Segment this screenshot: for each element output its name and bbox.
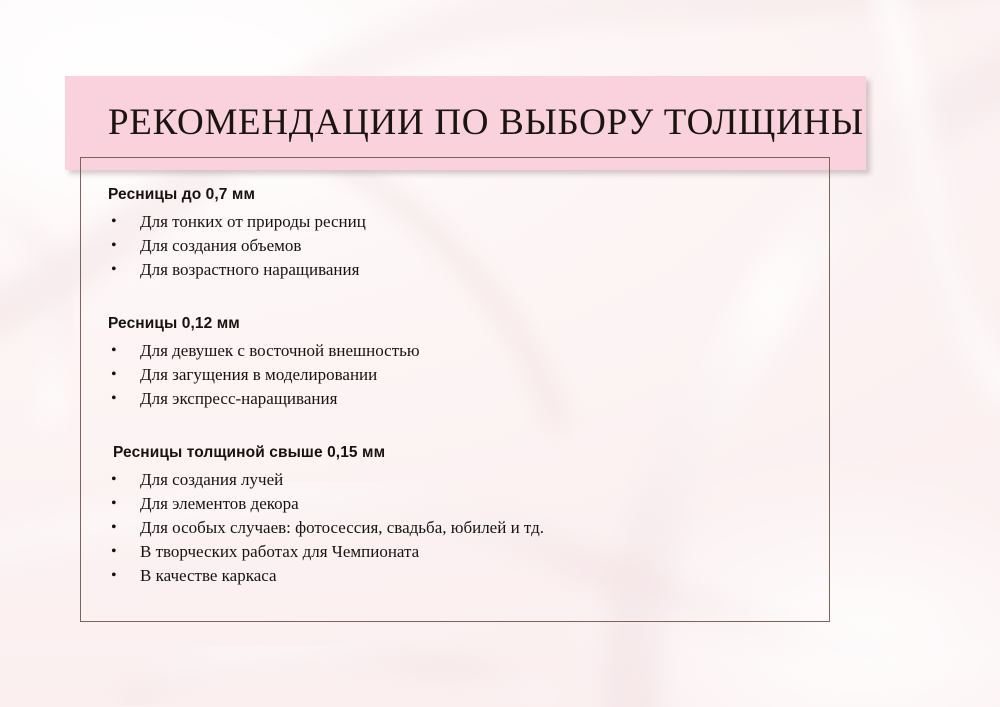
- bullet-list: •Для тонких от природы ресниц•Для создан…: [80, 210, 830, 282]
- list-item-label: Для возрастного наращивания: [140, 260, 359, 279]
- list-item-label: Для загущения в моделировании: [140, 365, 377, 384]
- list-item-label: В качестве каркаса: [140, 566, 277, 585]
- list-item: •Для возрастного наращивания: [80, 258, 830, 282]
- bullet-dot-icon: •: [111, 564, 121, 588]
- bullet-dot-icon: •: [111, 540, 121, 564]
- list-item: •В качестве каркаса: [80, 564, 830, 588]
- list-item: •Для экспресс-наращивания: [80, 387, 830, 411]
- list-item: •Для особых случаев: фотосессия, свадьба…: [80, 516, 830, 540]
- bullet-dot-icon: •: [111, 363, 121, 387]
- list-item-label: Для экспресс-наращивания: [140, 389, 337, 408]
- bullet-list: •Для девушек с восточной внешностью•Для …: [80, 339, 830, 411]
- slide: РЕКОМЕНДАЦИИ ПО ВЫБОРУ ТОЛЩИНЫ Ресницы д…: [0, 0, 1000, 707]
- list-item-label: Для особых случаев: фотосессия, свадьба,…: [140, 518, 544, 537]
- list-item: •Для загущения в моделировании: [80, 363, 830, 387]
- list-item-label: Для создания объемов: [140, 236, 301, 255]
- content-blocks: Ресницы до 0,7 мм•Для тонких от природы …: [80, 157, 830, 622]
- list-item-label: В творческих работах для Чемпионата: [140, 542, 419, 561]
- content-block: Ресницы толщиной свыше 0,15 мм•Для созда…: [80, 442, 830, 588]
- list-item: •Для девушек с восточной внешностью: [80, 339, 830, 363]
- list-item-label: Для девушек с восточной внешностью: [140, 341, 420, 360]
- bullet-dot-icon: •: [111, 339, 121, 363]
- bullet-dot-icon: •: [111, 516, 121, 540]
- bullet-dot-icon: •: [111, 234, 121, 258]
- block-heading: Ресницы до 0,7 мм: [80, 184, 830, 206]
- list-item: •Для создания объемов: [80, 234, 830, 258]
- page-title: РЕКОМЕНДАЦИИ ПО ВЫБОРУ ТОЛЩИНЫ: [108, 97, 832, 149]
- list-item-label: Для тонких от природы ресниц: [140, 212, 366, 231]
- block-heading: Ресницы 0,12 мм: [80, 313, 830, 335]
- list-item: •Для элементов декора: [80, 492, 830, 516]
- bullet-dot-icon: •: [111, 258, 121, 282]
- list-item-label: Для создания лучей: [140, 470, 283, 489]
- content-block: Ресницы 0,12 мм•Для девушек с восточной …: [80, 313, 830, 411]
- list-item: •Для создания лучей: [80, 468, 830, 492]
- bullet-dot-icon: •: [111, 210, 121, 234]
- bullet-dot-icon: •: [111, 387, 121, 411]
- list-item-label: Для элементов декора: [140, 494, 299, 513]
- bullet-dot-icon: •: [111, 468, 121, 492]
- list-item: •Для тонких от природы ресниц: [80, 210, 830, 234]
- block-heading: Ресницы толщиной свыше 0,15 мм: [80, 442, 830, 464]
- list-item: •В творческих работах для Чемпионата: [80, 540, 830, 564]
- content-block: Ресницы до 0,7 мм•Для тонких от природы …: [80, 184, 830, 282]
- bullet-dot-icon: •: [111, 492, 121, 516]
- bullet-list: •Для создания лучей•Для элементов декора…: [80, 468, 830, 588]
